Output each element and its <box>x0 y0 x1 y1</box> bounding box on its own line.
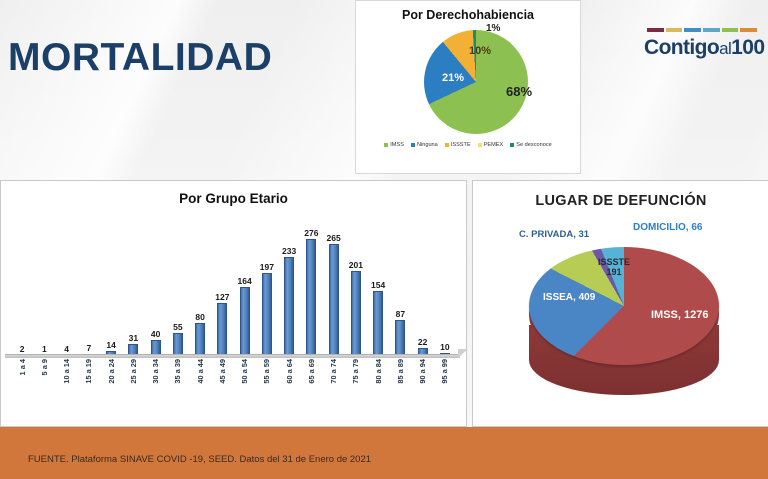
bar-column: 201 <box>345 207 367 357</box>
x-axis-tick-text: 75 a 79 <box>351 359 360 384</box>
bar-column: 7 <box>78 207 100 357</box>
legend-item: PEMEX <box>478 142 504 148</box>
logo-bar-segment <box>647 28 664 32</box>
panel-lugar-defuncion: LUGAR DE DEFUNCIÓN IMSS, 1276 ISSEA, 409… <box>472 180 768 427</box>
legend-swatch-icon <box>384 143 388 147</box>
bar-column: 80 <box>189 207 211 357</box>
x-axis-tick-text: 30 a 34 <box>151 359 160 384</box>
legend-item: ISSSTE <box>445 142 471 148</box>
bar-column: 4 <box>56 207 78 357</box>
pie-label-issste-value: 191 <box>598 267 630 277</box>
pie-label-imss: IMSS, 1276 <box>651 309 708 321</box>
bar-rect <box>284 257 294 357</box>
bar-column: 276 <box>300 207 322 357</box>
bar-column: 1 <box>33 207 55 357</box>
x-axis-tick-label: 70 a 74 <box>323 359 345 393</box>
logo-word-light: al <box>719 39 731 58</box>
bar-value-label: 87 <box>396 309 405 319</box>
bar-column: 31 <box>122 207 144 357</box>
x-axis-tick-text: 70 a 74 <box>329 359 338 384</box>
x-axis-tick-text: 65 a 69 <box>307 359 316 384</box>
x-axis-tick-label: 1 a 4 <box>11 359 33 393</box>
bar-column: 154 <box>367 207 389 357</box>
bar-value-label: 4 <box>64 344 69 354</box>
bar-value-label: 10 <box>440 342 449 352</box>
x-axis-tick-text: 10 a 14 <box>62 359 71 384</box>
x-axis-tick-label: 90 a 94 <box>412 359 434 393</box>
logo-color-bars <box>647 28 759 32</box>
pie-label-issste-name: ISSSTE <box>598 257 630 267</box>
logo-word-bold: Contigo <box>644 36 719 59</box>
bar-value-label: 1 <box>42 344 47 354</box>
contigo-al-100-logo: Contigoal100 <box>644 28 762 60</box>
bar-value-label: 154 <box>371 280 385 290</box>
x-axis-tick-label: 45 a 49 <box>211 359 233 393</box>
legend-label: Se desconoce <box>516 142 551 148</box>
chart-title-grupo-etario: Por Grupo Etario <box>1 191 466 206</box>
x-axis-tick-label: 25 a 29 <box>122 359 144 393</box>
x-axis-tick-label: 80 a 84 <box>367 359 389 393</box>
legend-derechohabiencia: IMSSNingunaISSSTEPEMEXSe desconoce <box>356 142 580 148</box>
bar-rect <box>240 287 250 357</box>
bar-value-label: 31 <box>129 333 138 343</box>
x-axis-tick-label: 75 a 79 <box>345 359 367 393</box>
bar-rect <box>217 303 227 357</box>
bar-rect <box>195 323 205 357</box>
pie-chart-derechohabiencia: 68% 21% 10% 1% <box>356 22 580 140</box>
x-axis-tick-text: 5 a 9 <box>40 359 49 375</box>
x-axis-line <box>5 354 460 358</box>
x-axis-tick-text: 95 a 99 <box>440 359 449 384</box>
source-note: FUENTE. Plataforma SINAVE COVID -19, SEE… <box>28 454 371 465</box>
chart-title-derechohabiencia: Por Derechohabiencia <box>356 8 580 22</box>
x-axis-tick-label: 65 a 69 <box>300 359 322 393</box>
bar-rect <box>329 244 339 357</box>
chart-title-lugar-defuncion: LUGAR DE DEFUNCIÓN <box>473 193 768 209</box>
bar-column: 164 <box>234 207 256 357</box>
x-axis-tick-text: 20 a 24 <box>107 359 116 384</box>
x-axis-tick-text: 55 a 59 <box>262 359 271 384</box>
x-axis-tick-label: 10 a 14 <box>56 359 78 393</box>
bar-value-label: 2 <box>20 344 25 354</box>
x-axis-tick-label: 95 a 99 <box>434 359 456 393</box>
pie-label-pemex: 1% <box>486 23 500 34</box>
x-axis-tick-label: 85 a 89 <box>389 359 411 393</box>
bar-series: 2147143140558012716419723327626520115487… <box>11 207 456 357</box>
bar-chart-grupo-etario: 2147143140558012716419723327626520115487… <box>5 211 460 393</box>
bar-column: 265 <box>323 207 345 357</box>
x-axis-tick-label: 55 a 59 <box>256 359 278 393</box>
pie-label-issste: ISSSTE 191 <box>598 257 630 277</box>
x-axis-tick-label: 40 a 44 <box>189 359 211 393</box>
bar-rect <box>373 291 383 357</box>
pie-label-domicilio: DOMICILIO, 66 <box>633 222 702 233</box>
bar-column: 233 <box>278 207 300 357</box>
panel-derechohabiencia: Por Derechohabiencia 68% 21% 10% 1% IMSS… <box>355 0 581 174</box>
legend-label: PEMEX <box>484 142 504 148</box>
logo-bar-segment <box>666 28 683 32</box>
x-axis-tick-text: 80 a 84 <box>374 359 383 384</box>
legend-label: ISSSTE <box>451 142 471 148</box>
bar-column: 22 <box>412 207 434 357</box>
bar-value-label: 201 <box>349 260 363 270</box>
panel-grupo-etario: Por Grupo Etario 21471431405580127164197… <box>0 180 467 427</box>
bar-rect <box>395 320 405 357</box>
legend-item: IMSS <box>384 142 404 148</box>
bar-rect <box>262 273 272 357</box>
bar-column: 55 <box>167 207 189 357</box>
bar-value-label: 22 <box>418 337 427 347</box>
x-axis-tick-text: 45 a 49 <box>218 359 227 384</box>
bar-column: 87 <box>389 207 411 357</box>
bar-value-label: 127 <box>215 292 229 302</box>
bar-value-label: 233 <box>282 246 296 256</box>
pie-label-issea: ISSEA, 409 <box>543 292 595 303</box>
x-axis-tick-label: 5 a 9 <box>33 359 55 393</box>
x-axis-tick-text: 1 a 4 <box>18 359 27 375</box>
bar-column: 197 <box>256 207 278 357</box>
legend-label: Ninguna <box>417 142 438 148</box>
legend-label: IMSS <box>390 142 404 148</box>
logo-bar-segment <box>703 28 720 32</box>
bar-value-label: 164 <box>238 276 252 286</box>
legend-swatch-icon <box>478 143 482 147</box>
bar-value-label: 276 <box>304 228 318 238</box>
x-axis-tick-label: 60 a 64 <box>278 359 300 393</box>
bar-value-label: 14 <box>106 340 115 350</box>
x-axis-labels: 1 a 45 a 910 a 1415 a 1920 a 2425 a 2930… <box>11 359 456 393</box>
logo-word-number: 100 <box>731 36 764 59</box>
bar-column: 40 <box>145 207 167 357</box>
footer-band: FUENTE. Plataforma SINAVE COVID -19, SEE… <box>0 427 768 479</box>
bar-column: 2 <box>11 207 33 357</box>
pie-label-clinica-privada: C. PRIVADA, 31 <box>519 229 589 240</box>
bar-column: 14 <box>100 207 122 357</box>
legend-swatch-icon <box>445 143 449 147</box>
logo-bar-segment <box>740 28 757 32</box>
legend-item: Ninguna <box>411 142 438 148</box>
x-axis-tick-text: 25 a 29 <box>129 359 138 384</box>
x-axis-tick-label: 50 a 54 <box>234 359 256 393</box>
legend-swatch-icon <box>411 143 415 147</box>
legend-swatch-icon <box>510 143 514 147</box>
pie-label-ninguna: 21% <box>442 72 464 84</box>
bar-rect <box>351 271 361 357</box>
bar-value-label: 55 <box>173 322 182 332</box>
logo-bar-segment <box>722 28 739 32</box>
slide-canvas: MORTALIDAD Contigoal100 Por Derechohabie… <box>0 0 768 479</box>
legend-item: Se desconoce <box>510 142 551 148</box>
bar-value-label: 7 <box>87 343 92 353</box>
logo-bar-segment <box>684 28 701 32</box>
bar-column: 127 <box>211 207 233 357</box>
x-axis-tick-label: 35 a 39 <box>167 359 189 393</box>
bar-value-label: 80 <box>195 312 204 322</box>
pie-label-imss: 68% <box>506 84 532 99</box>
x-axis-tick-label: 15 a 19 <box>78 359 100 393</box>
x-axis-tick-text: 90 a 94 <box>418 359 427 384</box>
bar-value-label: 40 <box>151 329 160 339</box>
bar-value-label: 197 <box>260 262 274 272</box>
x-axis-tick-text: 50 a 54 <box>240 359 249 384</box>
x-axis-tick-text: 60 a 64 <box>285 359 294 384</box>
x-axis-tick-label: 20 a 24 <box>100 359 122 393</box>
x-axis-tick-label: 30 a 34 <box>145 359 167 393</box>
bar-value-label: 265 <box>327 233 341 243</box>
page-title: MORTALIDAD <box>8 36 272 80</box>
logo-wordmark: Contigoal100 <box>644 36 762 60</box>
pie-label-issste: 10% <box>469 45 491 57</box>
x-axis-tick-text: 85 a 89 <box>396 359 405 384</box>
pie-chart-lugar-defuncion: IMSS, 1276 ISSEA, 409 ISSSTE 191 C. PRIV… <box>473 209 768 409</box>
x-axis-tick-text: 35 a 39 <box>173 359 182 384</box>
bar-rect <box>306 239 316 357</box>
x-axis-tick-text: 15 a 19 <box>84 359 93 384</box>
bar-column: 10 <box>434 207 456 357</box>
x-axis-tick-text: 40 a 44 <box>196 359 205 384</box>
